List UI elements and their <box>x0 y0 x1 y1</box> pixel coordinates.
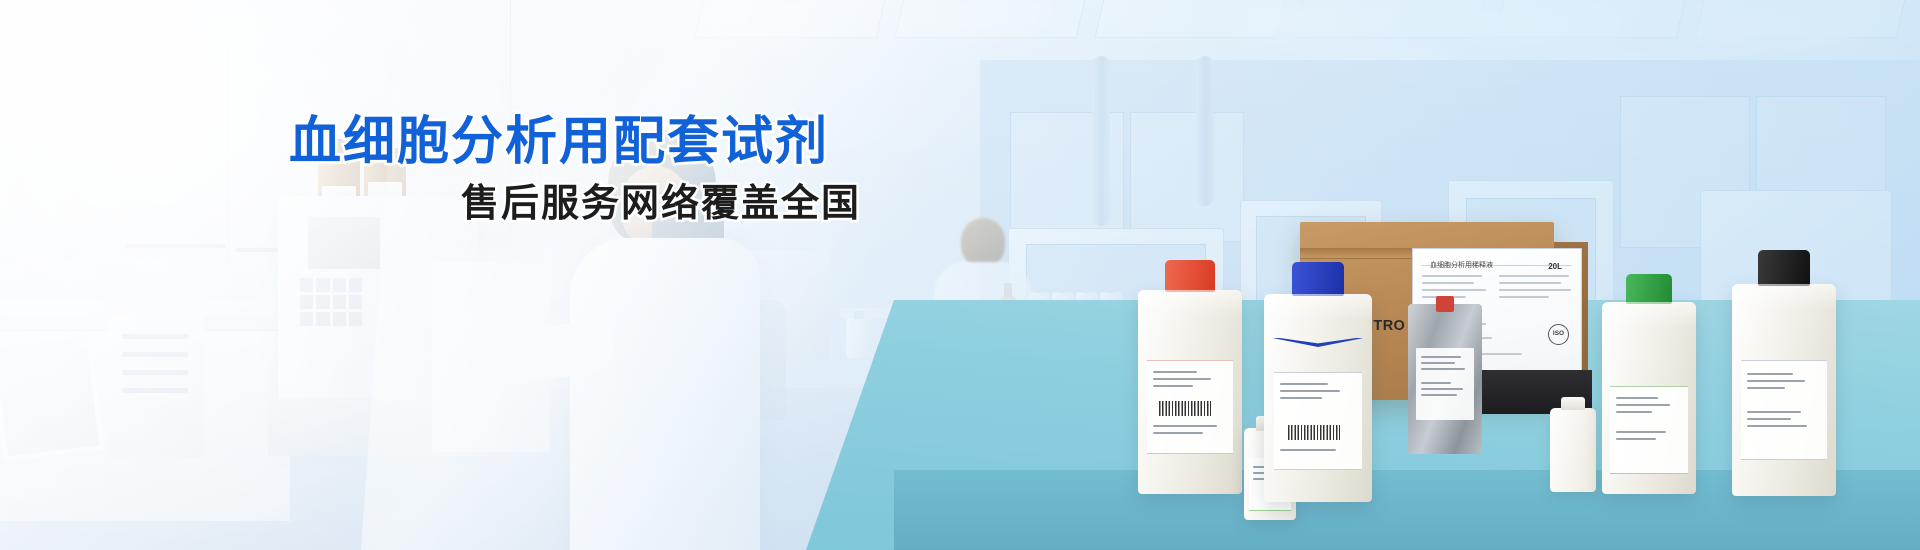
spec-line <box>1422 282 1474 284</box>
lyse-bottle-blue-cap <box>1264 294 1372 502</box>
iso-certification-mark: ISO <box>1548 324 1569 345</box>
small-vial-white-2 <box>1550 408 1596 492</box>
rinse-bottle-green-cap <box>1602 302 1696 494</box>
hero-banner: IN VITRO DIAGNOSTICS 血细胞分析用稀释液 20L ISO <box>0 0 1920 550</box>
banner-headline: 血细胞分析用配套试剂 <box>289 99 829 174</box>
bottle-cap-blue <box>1292 262 1344 296</box>
bottle-label <box>1741 360 1826 460</box>
bottle-shoulder <box>1732 284 1836 310</box>
bottle-label <box>1147 360 1232 454</box>
spec-line <box>1499 289 1571 291</box>
cleanser-bottle-black-cap <box>1732 284 1836 496</box>
bottle-shoulder <box>1264 294 1372 320</box>
bottle-shoulder <box>1138 290 1242 316</box>
diluent-bottle-red-cap <box>1138 290 1242 494</box>
pouch-spout-cap <box>1436 296 1454 312</box>
spec-line <box>1499 275 1569 277</box>
spec-line <box>1422 289 1486 291</box>
pouch-label <box>1416 348 1474 420</box>
spec-sheet-header: 血细胞分析用稀释液 20L <box>1421 256 1571 266</box>
bottle-cap-black <box>1758 250 1810 286</box>
vial-cap <box>1561 397 1585 410</box>
bottle-cap-green <box>1626 274 1672 304</box>
bottle-shoulder <box>1602 302 1696 328</box>
product-group: IN VITRO DIAGNOSTICS 血细胞分析用稀释液 20L ISO <box>1150 240 1870 530</box>
bottle-label <box>1274 372 1363 470</box>
spec-line <box>1499 282 1561 284</box>
spec-sheet-title: 血细胞分析用稀释液 <box>1430 260 1493 270</box>
banner-subheadline: 售后服务网络覆盖全国 <box>461 172 861 227</box>
bottle-label <box>1610 386 1687 474</box>
spec-sheet-volume: 20L <box>1548 262 1562 271</box>
foil-pouch <box>1408 304 1482 454</box>
spec-line <box>1499 296 1549 298</box>
bottle-cap-red <box>1165 260 1215 292</box>
spec-line <box>1422 275 1482 277</box>
bottle-chevron-stripe <box>1273 338 1364 347</box>
